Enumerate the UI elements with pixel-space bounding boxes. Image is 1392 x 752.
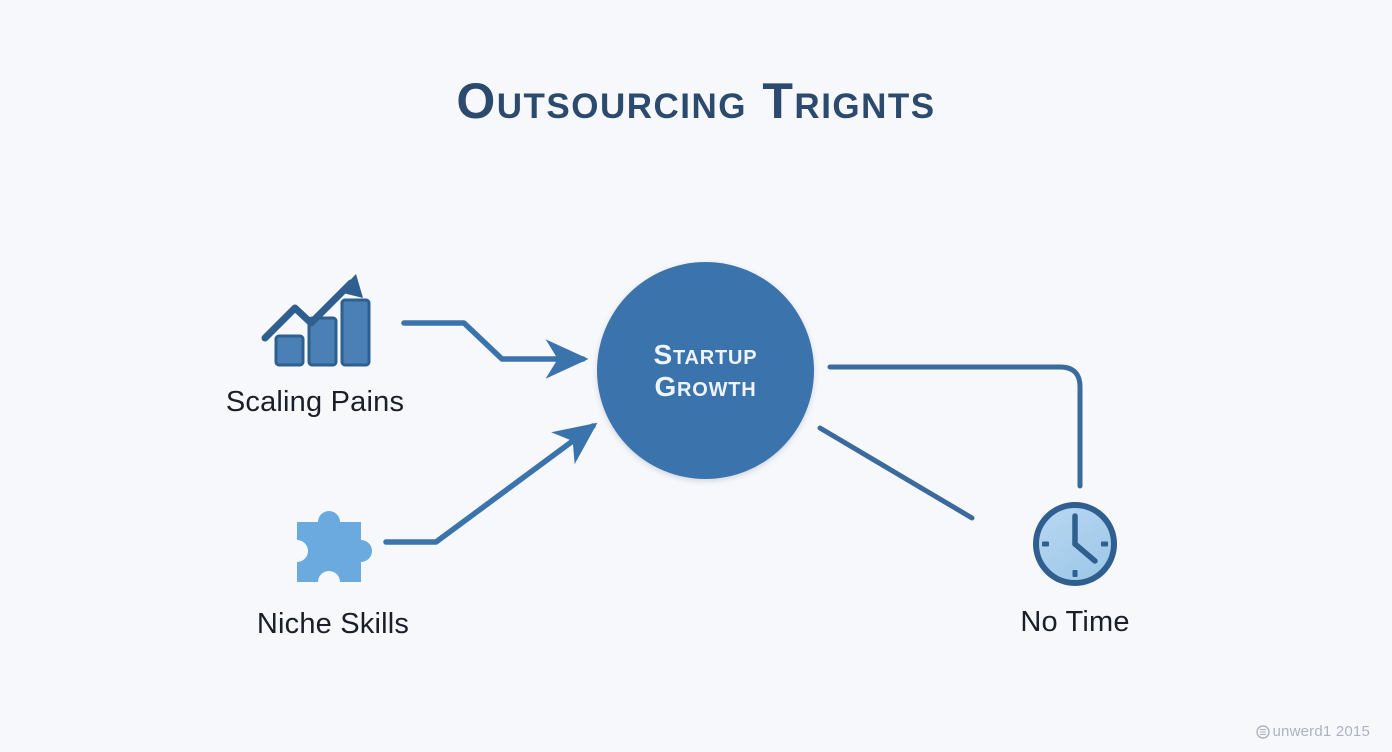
node-niche-skills[interactable]: Niche Skills (225, 500, 441, 641)
watermark: unwerd1 2015 (1256, 723, 1370, 740)
connector-hub-to-time (830, 367, 1080, 486)
growth-chart-icon (259, 270, 371, 370)
hub-label-line1: Startup (654, 339, 758, 370)
node-label-niche-skills: Niche Skills (257, 608, 409, 641)
puzzle-piece-icon (284, 500, 382, 592)
page-title: Outsourcing Trignts (0, 74, 1392, 129)
connector-hub-diagonal (820, 428, 972, 518)
node-no-time[interactable]: No Time (995, 498, 1155, 639)
watermark-text: unwerd1 2015 (1273, 723, 1370, 740)
diagram-canvas: Outsourcing Trignts Startup Growth (0, 0, 1392, 752)
node-label-no-time: No Time (1020, 606, 1129, 639)
clock-icon (1029, 498, 1121, 590)
node-scaling-pains[interactable]: Scaling Pains (205, 270, 425, 419)
copyright-icon (1256, 725, 1270, 739)
hub-startup-growth[interactable]: Startup Growth (597, 262, 814, 479)
node-label-scaling-pains: Scaling Pains (226, 386, 404, 419)
connector-scaling-to-hub (404, 323, 583, 359)
hub-label-line2: Growth (654, 371, 756, 402)
